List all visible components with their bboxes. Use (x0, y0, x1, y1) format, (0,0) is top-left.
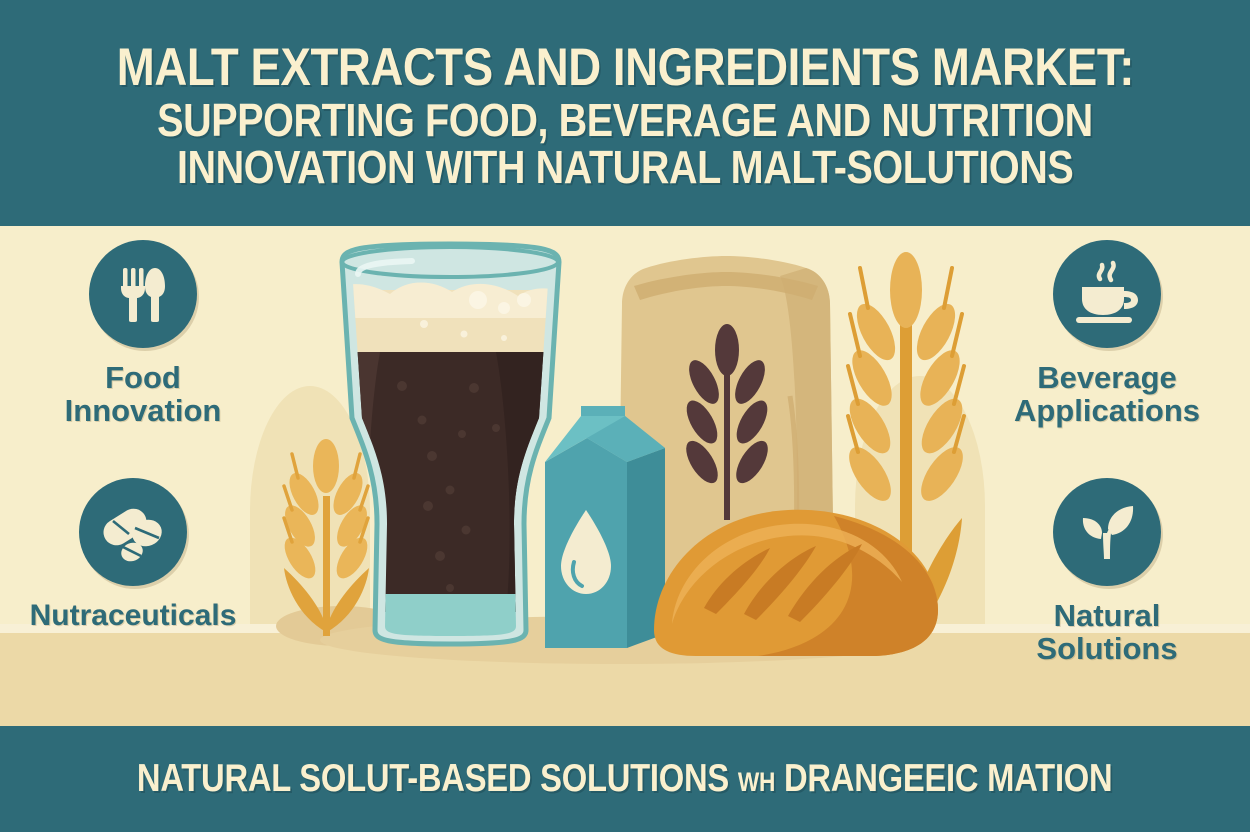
feature-icon-circle (1053, 478, 1161, 586)
feature-icon-circle (1053, 240, 1161, 348)
leaf-sprout-icon (1077, 503, 1137, 561)
feature-label: Food Innovation (65, 362, 222, 428)
feature-label: Beverage Applications (1014, 362, 1200, 428)
footer-part-1: NATURAL SOLUT-BASED SOLUTIONS (137, 757, 729, 800)
fork-knife-icon (115, 264, 171, 324)
beer-glass (328, 238, 573, 650)
feature-icon-circle (89, 240, 197, 348)
page-title-line-3: INNOVATION WITH NATURAL MALT-SOLUTIONS (177, 144, 1073, 191)
feature-natural-solutions[interactable]: Natural Solutions (992, 478, 1222, 666)
coffee-cup-icon (1074, 263, 1140, 325)
feature-label: Nutraceuticals (30, 600, 237, 632)
footer-small-word: WH (738, 767, 775, 797)
footer-banner: NATURAL SOLUT-BASED SOLUTIONS WH DRANGEE… (0, 726, 1250, 832)
bread-loaf (648, 498, 944, 660)
feature-beverage-applications[interactable]: Beverage Applications (992, 240, 1222, 428)
page-title-line-2: SUPPORTING FOOD, BEVERAGE AND NUTRITION (157, 97, 1093, 144)
feature-label: Natural Solutions (1036, 600, 1177, 666)
footer-caption: NATURAL SOLUT-BASED SOLUTIONS WH DRANGEE… (137, 757, 1113, 801)
header-banner: MALT EXTRACTS AND INGREDIENTS MARKET: SU… (0, 0, 1250, 226)
feature-food-innovation[interactable]: Food Innovation (28, 240, 258, 428)
footer-part-2: DRANGEEIC MATION (784, 757, 1112, 800)
poster-infographic: MALT EXTRACTS AND INGREDIENTS MARKET: SU… (0, 0, 1250, 832)
feature-nutraceuticals[interactable]: Nutraceuticals (18, 478, 248, 632)
page-title-line-1: MALT EXTRACTS AND INGREDIENTS MARKET: (116, 41, 1133, 95)
feature-icon-circle (79, 478, 187, 586)
pills-icon (102, 502, 164, 562)
illustration-stage: Food Innovation (0, 226, 1250, 726)
